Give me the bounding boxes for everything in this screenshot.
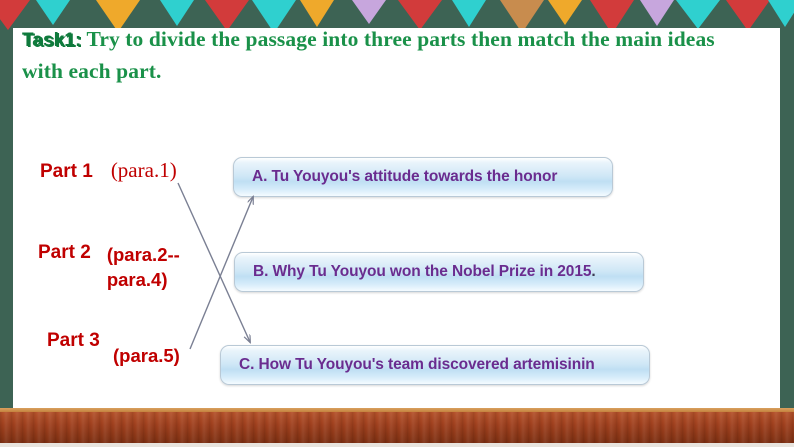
option-text-c: C. How Tu Youyou's team discovered artem…	[221, 356, 595, 374]
option-text-a: A. Tu Youyou's attitude towards the hono…	[234, 168, 557, 186]
part-para-2-wrap: (para.2--para.4)	[107, 242, 180, 292]
part-row-2: Part 2(para.2--para.4)	[38, 242, 180, 292]
bunting-flag-4	[160, 0, 194, 26]
part-para-2-line1: (para.2--	[107, 244, 180, 265]
option-box-a[interactable]: A. Tu Youyou's attitude towards the hono…	[233, 157, 613, 197]
bunting-flag-8	[352, 0, 386, 24]
task-instruction: Try to divide the passage into three par…	[22, 27, 715, 83]
wood-bar	[0, 412, 794, 443]
part-para-2-line2: para.4)	[107, 269, 168, 290]
part-para-3: (para.5)	[113, 343, 180, 368]
bunting-flag-14	[640, 0, 674, 26]
slide-base-strip	[0, 443, 794, 447]
bunting-flag-10	[452, 0, 486, 27]
part-row-1: Part 1(para.1)	[40, 158, 177, 183]
part-label-2: Part 2	[38, 242, 91, 263]
bunting-flag-12	[548, 0, 582, 25]
slide-canvas: Task1:Task1: Try to divide the passage i…	[0, 0, 794, 447]
option-box-b[interactable]: B. Why Tu Youyou won the Nobel Prize in …	[234, 252, 644, 292]
task-label-front: Task1:	[22, 30, 81, 51]
part-label-1: Part 1	[40, 161, 93, 182]
bunting-flag-7	[300, 0, 334, 27]
part-row-3: Part 3(para.5)	[47, 330, 100, 352]
page-title: Task1:Task1: Try to divide the passage i…	[22, 24, 747, 86]
option-text-b: B. Why Tu Youyou won the Nobel Prize in …	[235, 263, 596, 281]
bunting-flag-2	[36, 0, 70, 25]
part-para-1: (para.1)	[111, 158, 177, 182]
bunting-flag-17	[768, 0, 794, 27]
task-label: Task1:Task1:	[22, 26, 81, 56]
part-label-3: Part 3	[47, 330, 100, 351]
option-box-c[interactable]: C. How Tu Youyou's team discovered artem…	[220, 345, 650, 385]
